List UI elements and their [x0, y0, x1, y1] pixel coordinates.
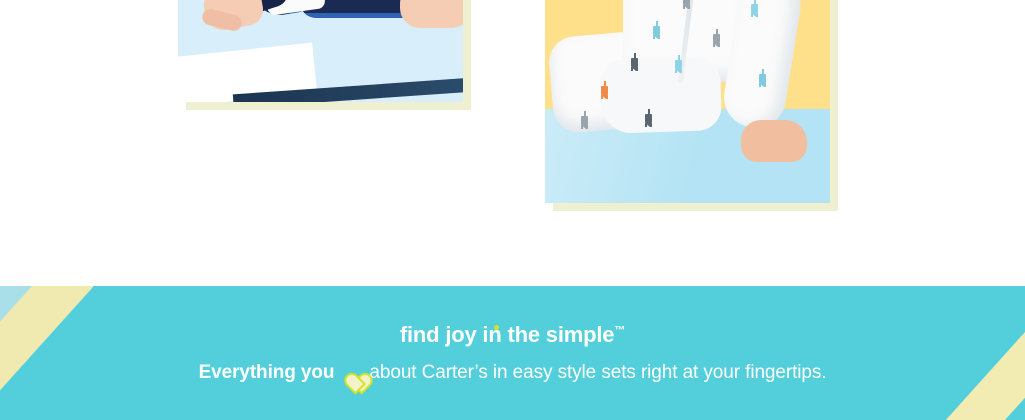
llama-print-motif — [683, 0, 690, 5]
llama-print-motif — [751, 4, 758, 13]
llama-print-motif — [631, 58, 638, 67]
llama-print-motif — [601, 86, 608, 95]
pajama-leg-right — [600, 56, 723, 134]
llama-print-motif — [581, 116, 588, 125]
llama-print-motif — [653, 26, 660, 35]
promo-subline-bold: Everything you — [199, 362, 335, 384]
heart-icon — [342, 364, 362, 383]
promo-subline-rest: about Carter’s in easy style sets right … — [369, 362, 826, 384]
product-photo-striped-sweater[interactable] — [178, 0, 463, 102]
llama-print-motif — [713, 34, 720, 43]
product-photo-llama-pajamas[interactable] — [545, 0, 830, 203]
j-dot-accent — [494, 325, 499, 330]
baby-hand-right — [400, 0, 463, 28]
baby-hand — [741, 120, 807, 162]
promo-subline: Everything you about Carter’s in easy st… — [199, 362, 827, 384]
llama-print-motif — [645, 114, 652, 123]
photo-canvas — [178, 0, 463, 102]
hero-product-images — [0, 0, 1025, 286]
llama-print-motif — [675, 60, 682, 69]
promo-banner: find joy in the simple™ Everything you a… — [0, 286, 1025, 420]
trademark-symbol: ™ — [614, 325, 625, 337]
promo-headline: find joy in the simple™ — [400, 322, 625, 348]
photo-canvas — [545, 0, 830, 203]
promo-headline-text: find joy in the simple — [400, 322, 614, 347]
llama-print-motif — [759, 74, 766, 83]
